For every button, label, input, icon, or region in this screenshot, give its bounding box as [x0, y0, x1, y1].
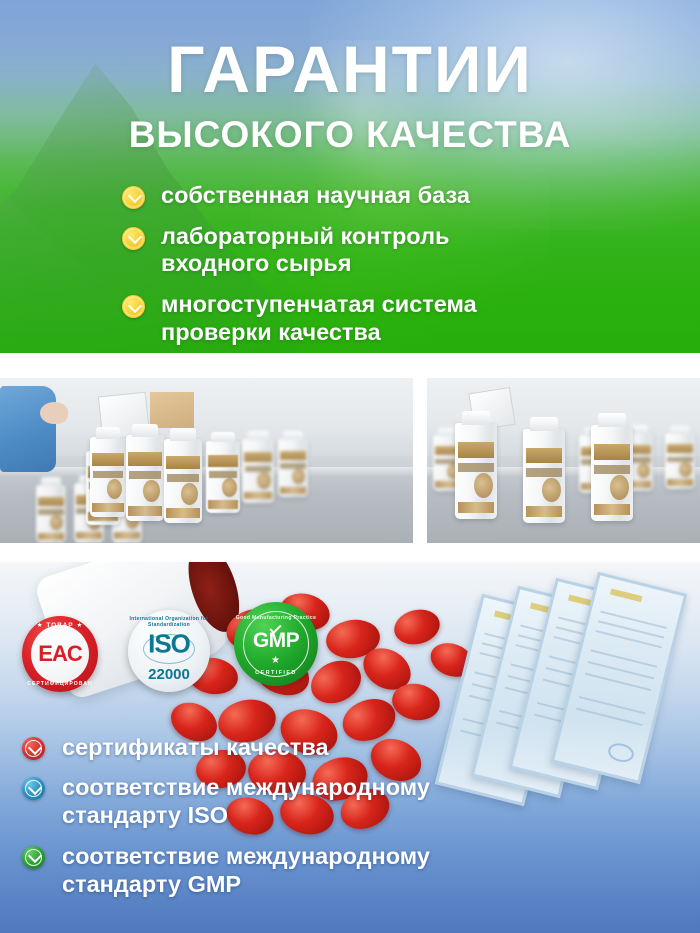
hero-banner: ГАРАНТИИ ВЫСОКОГО КАЧЕСТВА собственная н…	[0, 0, 700, 353]
production-photo-strip	[0, 378, 700, 543]
production-line-photo-left	[0, 378, 413, 543]
bottle	[126, 435, 164, 521]
certification-feature-list: сертификаты качества соответствие междун…	[22, 733, 682, 898]
list-item-label: лабораторный контроль входного сырья	[145, 223, 449, 278]
list-item: сертификаты качества	[22, 733, 682, 761]
page-title: ГАРАНТИИ	[0, 0, 700, 102]
list-item: лабораторный контроль входного сырья	[122, 223, 700, 278]
eac-arc-bottom-label: СЕРТИФИЦИРОВАН	[22, 681, 98, 687]
lab-scene	[0, 378, 413, 543]
worker-hand	[40, 402, 68, 424]
production-line-photo-right	[427, 378, 700, 543]
gold-chevron-down-icon	[122, 295, 145, 318]
green-chevron-down-icon	[22, 846, 45, 869]
iso-arc-label: International Organization for Standardi…	[128, 616, 210, 628]
star-icon: ★	[271, 656, 280, 666]
lab-scene	[427, 378, 700, 543]
list-item-label: сертификаты качества	[45, 733, 329, 761]
bottle	[36, 485, 66, 543]
iso-number-label: 22000	[128, 666, 210, 683]
blue-chevron-down-icon	[22, 777, 45, 800]
certification-panel: ★ ТОВАР ★ ЕAC СЕРТИФИЦИРОВАН Internation…	[0, 562, 700, 933]
bottle	[665, 433, 695, 489]
list-item: собственная научная база	[122, 182, 700, 210]
bottle	[591, 425, 633, 521]
eac-certificate-badge: ★ ТОВАР ★ ЕAC СЕРТИФИЦИРОВАН	[22, 616, 98, 692]
gmp-certified-badge: Good Manufacturing Practice GMP ★ CERTIF…	[234, 602, 318, 686]
worker-blue-sleeve	[0, 386, 56, 472]
gold-chevron-down-icon	[122, 186, 145, 209]
iso-center-label: ISO	[128, 629, 210, 660]
list-item: соответствие международному стандарту GM…	[22, 842, 682, 898]
bottle	[164, 439, 202, 523]
list-item: многоступенчатая система проверки качест…	[122, 291, 700, 346]
certification-badges: ★ ТОВАР ★ ЕAC СЕРТИФИЦИРОВАН Internation…	[0, 562, 700, 762]
hero-feature-list: собственная научная база лабораторный ко…	[0, 182, 700, 347]
bottle	[90, 437, 126, 517]
list-item: соответствие международному стандарту IS…	[22, 773, 682, 829]
bottle	[206, 441, 240, 513]
bottle	[455, 423, 497, 519]
bottle	[523, 429, 565, 523]
bottle	[278, 439, 308, 497]
gold-chevron-down-icon	[122, 227, 145, 250]
red-chevron-down-icon	[22, 737, 45, 760]
gmp-arc-bottom-label: CERTIFIED	[234, 670, 318, 676]
gmp-center-label: GMP	[234, 629, 318, 653]
list-item-label: соответствие международному стандарту IS…	[45, 773, 430, 829]
page-subtitle: ВЫСОКОГО КАЧЕСТВА	[0, 102, 700, 153]
list-item-label: многоступенчатая система проверки качест…	[145, 291, 477, 346]
cardboard-box	[150, 392, 194, 428]
list-item-label: соответствие международному стандарту GM…	[45, 842, 430, 898]
gmp-arc-top-label: Good Manufacturing Practice	[234, 615, 318, 621]
eac-center-label: ЕAC	[22, 641, 98, 667]
bottle	[242, 439, 274, 503]
iso-22000-badge: International Organization for Standardi…	[128, 610, 210, 692]
list-item-label: собственная научная база	[145, 182, 470, 210]
